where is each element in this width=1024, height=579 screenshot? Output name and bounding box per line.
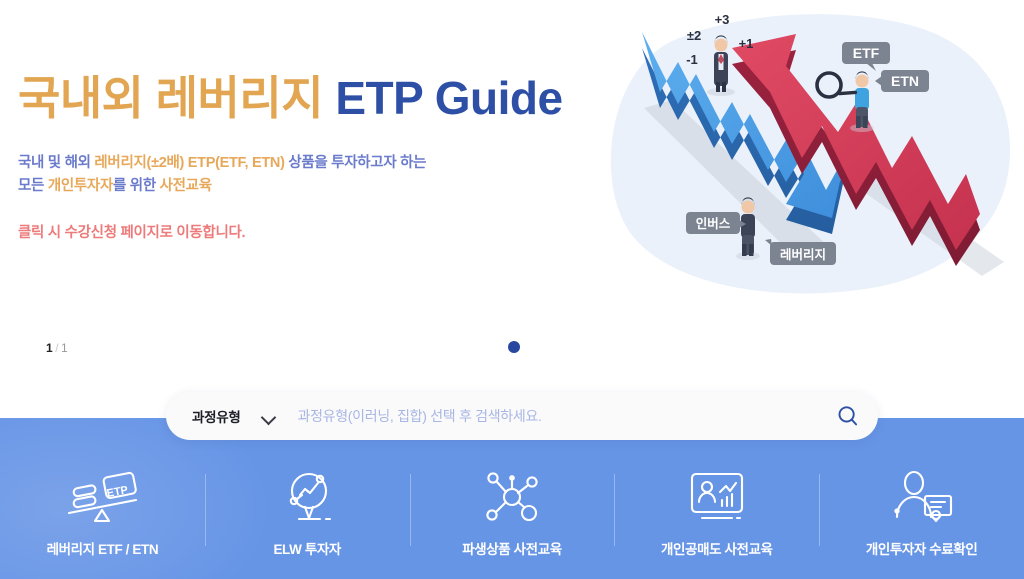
slide-dots[interactable] bbox=[508, 341, 520, 353]
course-search-bar: 과정유형 bbox=[166, 392, 878, 440]
nav-label-short-selling-education: 개인공매도 사전교육 bbox=[661, 538, 773, 558]
nav-item-leverage-etf-etn[interactable]: ETP 레버리지 ETF / ETN bbox=[0, 462, 205, 572]
hero-text-block: 국내외 레버리지 ETP Guide 국내 및 해외 레버리지(±2배) ETP… bbox=[18, 74, 578, 242]
label-etn: ETN bbox=[875, 70, 929, 92]
marker-plus1: +1 bbox=[739, 36, 754, 51]
hero-subtitle: 국내 및 해외 레버리지(±2배) ETP(ETF, ETN) 상품을 투자하고… bbox=[18, 152, 578, 199]
marker-plusminus2: ±2 bbox=[687, 28, 701, 43]
slide-current: 1 bbox=[46, 341, 53, 355]
page-root: 국내외 레버리지 ETP Guide 국내 및 해외 레버리지(±2배) ETP… bbox=[0, 0, 1024, 579]
slide-counter: 1/1 bbox=[46, 341, 68, 355]
page-title-gold: 국내외 레버리지 bbox=[18, 72, 323, 124]
hero-banner[interactable]: 국내외 레버리지 ETP Guide 국내 및 해외 레버리지(±2배) ETP… bbox=[0, 0, 1024, 418]
course-type-label: 과정유형 bbox=[192, 406, 240, 426]
quick-link-nav: ETP 레버리지 ETF / ETN bbox=[0, 462, 1024, 572]
hero-subtitle-seg-4: 를 위한 bbox=[113, 178, 160, 194]
network-nodes-icon bbox=[479, 468, 545, 530]
nav-label-derivatives-education: 파생상품 사전교육 bbox=[462, 538, 562, 558]
svg-text:ETF: ETF bbox=[853, 45, 880, 61]
scale-etp-icon: ETP bbox=[60, 468, 144, 530]
nav-label-leverage-etf-etn: 레버리지 ETF / ETN bbox=[47, 538, 159, 558]
slide-dot-1[interactable] bbox=[508, 341, 520, 353]
hero-subtitle-seg-1: 국내 및 해외 bbox=[18, 155, 94, 171]
search-icon bbox=[836, 404, 860, 428]
hero-subtitle-seg-3: 모든 bbox=[18, 178, 48, 194]
monitor-person-chart-icon bbox=[682, 468, 752, 530]
search-button[interactable] bbox=[818, 392, 878, 440]
slide-separator: / bbox=[55, 341, 59, 355]
marker-plus3: +3 bbox=[715, 12, 730, 27]
person-certificate-icon bbox=[887, 468, 957, 530]
svg-text:ETP: ETP bbox=[106, 484, 129, 500]
svg-text:ETN: ETN bbox=[891, 73, 919, 89]
page-title: 국내외 레버리지 ETP Guide bbox=[18, 74, 578, 124]
nav-item-derivatives-education[interactable]: 파생상품 사전교육 bbox=[410, 462, 615, 572]
marker-minus1: -1 bbox=[686, 52, 698, 67]
nav-item-completion-check[interactable]: 개인투자자 수료확인 bbox=[819, 462, 1024, 572]
svg-text:레버리지: 레버리지 bbox=[780, 247, 826, 262]
nav-item-elw-investor[interactable]: ELW 투자자 bbox=[205, 462, 410, 572]
chevron-down-icon bbox=[262, 412, 275, 420]
hero-click-note: 클릭 시 수강신청 페이지로 이동합니다. bbox=[18, 221, 578, 242]
slide-total: 1 bbox=[61, 341, 68, 355]
page-title-blue: ETP Guide bbox=[335, 72, 562, 124]
label-leverage: 레버리지 bbox=[765, 239, 836, 265]
hero-subtitle-highlight-3: 사전교육 bbox=[160, 178, 212, 194]
hero-illustration: +3 ±2 +1 -1 bbox=[600, 4, 1024, 304]
nav-label-elw-investor: ELW 투자자 bbox=[273, 538, 340, 558]
hero-subtitle-highlight-2: 개인투자자 bbox=[48, 178, 113, 194]
nav-label-completion-check: 개인투자자 수료확인 bbox=[866, 538, 978, 558]
search-input[interactable] bbox=[297, 408, 818, 424]
course-type-select[interactable]: 과정유형 bbox=[166, 392, 275, 440]
hero-subtitle-seg-2: 상품을 투자하고자 하는 bbox=[285, 155, 427, 171]
magnifier-chart-icon bbox=[274, 468, 340, 530]
svg-text:인버스: 인버스 bbox=[696, 216, 731, 231]
label-inverse: 인버스 bbox=[686, 212, 746, 234]
nav-item-short-selling-education[interactable]: 개인공매도 사전교육 bbox=[614, 462, 819, 572]
hero-subtitle-highlight-1: 레버리지(±2배) ETP(ETF, ETN) bbox=[94, 155, 284, 171]
